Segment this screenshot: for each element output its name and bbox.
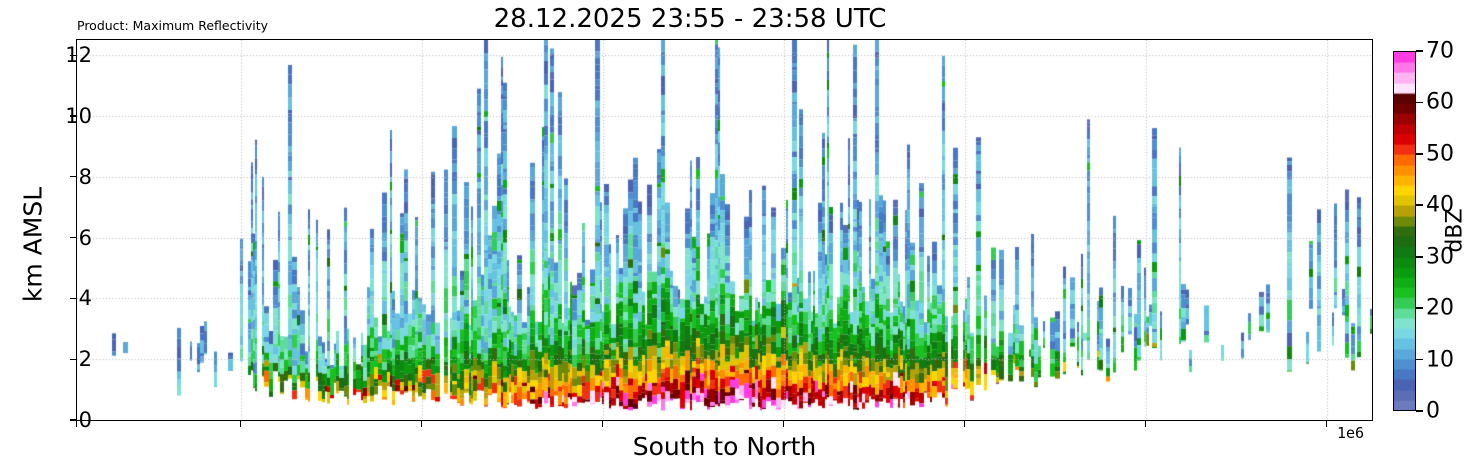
x-axis-tick-mark	[602, 421, 603, 427]
colorbar-tick-mark	[1416, 410, 1423, 412]
x-axis-label: South to North	[76, 432, 1373, 461]
y-axis-tick-label: 4	[79, 286, 92, 310]
reflectivity-heatmap	[77, 40, 1372, 420]
x-axis-offset-text: 1e6	[1337, 424, 1364, 442]
colorbar-gradient	[1393, 51, 1416, 411]
colorbar-tick-mark	[1416, 153, 1423, 155]
y-axis-tick-mark	[70, 115, 76, 116]
colorbar	[1393, 51, 1416, 411]
y-axis-tick-mark	[70, 298, 76, 299]
y-axis-tick-label: 8	[79, 165, 92, 189]
y-axis-tick-mark	[70, 237, 76, 238]
x-axis-tick-mark	[1145, 421, 1146, 427]
colorbar-tick-label: 40	[1426, 193, 1454, 218]
y-axis-tick-label: 6	[79, 226, 92, 250]
x-axis-tick-mark	[76, 421, 77, 427]
radar-cross-section-figure: 28.12.2025 23:55 - 23:58 UTC Product: Ma…	[0, 0, 1482, 470]
x-axis-tick-mark	[240, 421, 241, 427]
colorbar-tick-label: 30	[1426, 244, 1454, 269]
colorbar-tick-label: 10	[1426, 347, 1454, 372]
y-axis-tick-label: 2	[79, 347, 92, 371]
y-axis-tick-mark	[70, 176, 76, 177]
colorbar-tick-mark	[1416, 102, 1423, 104]
y-axis-label: km AMSL	[19, 135, 48, 355]
colorbar-tick-label: 20	[1426, 296, 1454, 321]
colorbar-tick-mark	[1416, 359, 1423, 361]
colorbar-tick-label: 70	[1426, 39, 1454, 64]
colorbar-tick-label: 60	[1426, 90, 1454, 115]
x-axis-tick-mark	[1326, 421, 1327, 427]
x-axis-tick-mark	[421, 421, 422, 427]
y-axis-tick-mark	[70, 359, 76, 360]
x-axis-tick-mark	[964, 421, 965, 427]
colorbar-tick-mark	[1416, 204, 1423, 206]
plot-area	[76, 39, 1373, 421]
y-axis-tick-label: 0	[79, 408, 92, 432]
colorbar-tick-mark	[1416, 256, 1423, 258]
colorbar-tick-label: 0	[1426, 399, 1440, 424]
colorbar-tick-mark	[1416, 50, 1423, 52]
y-axis-tick-mark	[70, 55, 76, 56]
colorbar-label: dBZ	[1443, 161, 1468, 301]
x-axis-tick-mark	[783, 421, 784, 427]
product-label: Product: Maximum Reflectivity	[77, 18, 268, 33]
colorbar-tick-label: 50	[1426, 141, 1454, 166]
colorbar-tick-mark	[1416, 307, 1423, 309]
